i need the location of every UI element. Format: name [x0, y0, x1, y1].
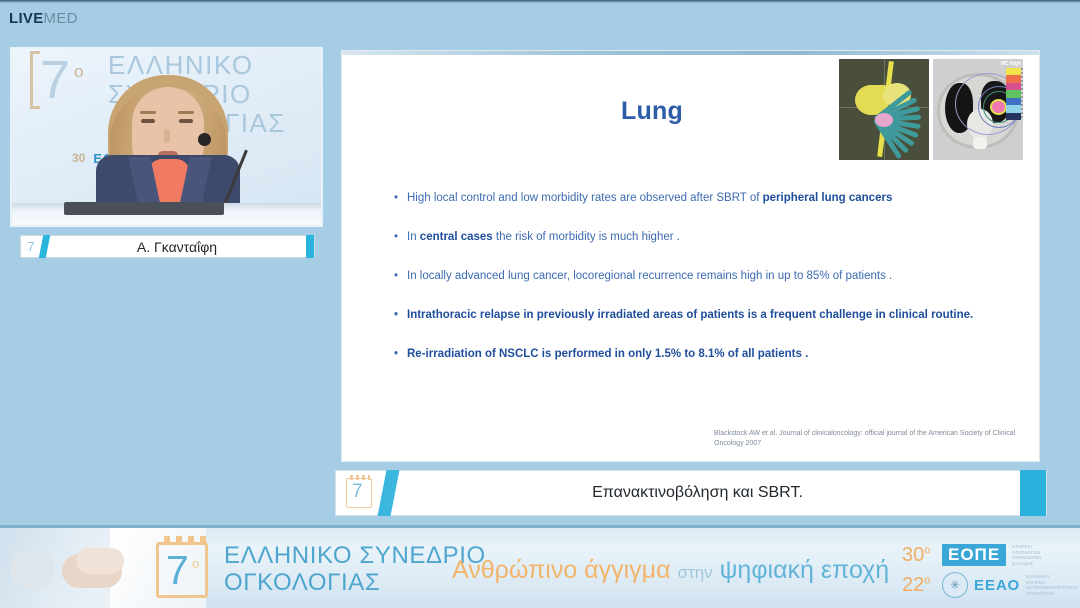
microphone-head-icon [198, 133, 211, 146]
podium-top-edge [64, 202, 224, 215]
speaker-brow-right [178, 111, 194, 114]
footer-eeao-seal-icon: ✳ [942, 572, 968, 598]
plan-target-volume [875, 113, 893, 127]
footer-eeao-subtitle: ΕΛΛΗΝΙΚΗ ΕΤΑΙΡΕΙΑ ΑΚΤΙΝΟΘΕΡΑΠΕΥΤΙΚΗΣ ΟΓΚ… [1026, 574, 1068, 596]
footer-eope-number: 30o [902, 544, 936, 567]
speaker-video-player[interactable]: 7 o ΕΛΛΗΝΙΚΟ ΣΥΝΕΔΡΙΟ ΟΓΚΟΛΟΓΙΑΣ 30 ΕΟΠΕ… [10, 47, 323, 227]
backdrop-degree: o [74, 57, 85, 86]
footer-photo-patient-head [10, 550, 54, 588]
speaker-name-bar: 7 Α. Γκανταΐφη [20, 235, 315, 258]
session-title-bar: 7 Επανακτινοβόληση και SBRT. [335, 470, 1047, 516]
ct-vertebra [973, 137, 987, 149]
speaker-eye-right [179, 119, 193, 123]
bullet-text: In locally advanced lung cancer, locoreg… [407, 269, 892, 284]
footer-tagline: Ανθρώπινο άγγιγμα στην ψηφιακή εποχή [452, 556, 889, 587]
footer-eope-subtitle: ΕΤΑΙΡΕΙΑ ΟΓΚΟΛΟΓΩΝ ΠΑΘΟΛΟΓΩΝ ΕΛΛΑΔΑΣ [1012, 544, 1054, 566]
speaker-nose [164, 129, 170, 143]
footer-conference-logo: 7 o ΕΛΛΗΝΙΚΟ ΣΥΝΕΔΡΙΟ ΟΓΚΟΛΟΓΙΑΣ [152, 542, 486, 598]
speaker-figure [98, 71, 238, 211]
bullet-marker-icon: • [394, 347, 407, 362]
slide-bullet-item: • In central cases the risk of morbidity… [394, 230, 1004, 245]
livemed-logo: LIVEMED [9, 10, 78, 28]
speaker-brow-left [140, 111, 156, 114]
footer-logo-seven: 7 [166, 545, 189, 595]
footer-society-logos: 30o ΕΟΠΕ ΕΤΑΙΡΕΙΑ ΟΓΚΟΛΟΓΩΝ ΠΑΘΟΛΟΓΩΝ ΕΛ… [902, 540, 1072, 604]
footer-eeao-mark: ΕΕΑΟ [974, 577, 1020, 594]
slide-bullet-item: • Re-irradiation of NSCLC is performed i… [394, 347, 1004, 362]
slide-bullet-item: • Intrathoracic relapse in previously ir… [394, 308, 1004, 323]
bullet-text: High local control and low morbidity rat… [407, 191, 892, 206]
footer-logo-degree: o [192, 556, 199, 571]
slide-citation: Blackstock AW et al. Journal of clinical… [714, 429, 1034, 449]
conference-footer-banner: 7 o ΕΛΛΗΝΙΚΟ ΣΥΝΕΔΡΙΟ ΟΓΚΟΛΟΓΙΑΣ Ανθρώπι… [0, 525, 1080, 608]
bullet-marker-icon: • [394, 308, 407, 323]
backdrop-bracket-icon [30, 51, 40, 109]
slide-bullet-item: • High local control and low morbidity r… [394, 191, 1004, 206]
bullet-marker-icon: • [394, 269, 407, 284]
footer-title-line-2: ΟΓΚΟΛΟΓΙΑΣ [224, 569, 486, 596]
footer-logo-eeao: 22o ✳ ΕΕΑΟ ΕΛΛΗΝΙΚΗ ΕΤΑΙΡΕΙΑ ΑΚΤΙΝΟΘΕΡΑΠ… [902, 570, 1072, 600]
speaker-name: Α. Γκανταΐφη [48, 239, 306, 255]
bullet-text: Intrathoracic relapse in previously irra… [407, 308, 973, 323]
caption-logo-badge: 7 [336, 478, 382, 508]
caption-logo-seven: 7 [352, 480, 363, 504]
speaker-bar-accent-right [306, 235, 314, 258]
slide-bullet-list: • High local control and low morbidity r… [394, 191, 1004, 386]
backdrop-sponsor-number: 30 [72, 151, 85, 165]
slide-bullet-item: • In locally advanced lung cancer, locor… [394, 269, 1004, 284]
session-title-text: Επανακτινοβόληση και SBRT. [395, 484, 1020, 502]
top-edge-strip [0, 0, 1080, 3]
radiotherapy-beam-plan-image [839, 59, 929, 160]
footer-eeao-number: 22o [902, 574, 936, 597]
ct-legend-label: MC High [1001, 61, 1021, 67]
ct-axial-chest-image: MC High [933, 59, 1023, 160]
bullet-marker-icon: • [394, 230, 407, 245]
bullet-text: In central cases the risk of morbidity i… [407, 230, 680, 245]
speaker-eye-left [141, 119, 155, 123]
slide-header-rule [342, 51, 1039, 55]
presentation-slide[interactable]: Lung [341, 50, 1040, 462]
footer-title-line-1: ΕΛΛΗΝΙΚΟ ΣΥΝΕΔΡΙΟ [224, 542, 486, 569]
ct-tumor-target [990, 99, 1007, 115]
slide-image-group: MC High [839, 59, 1023, 160]
footer-eope-mark: ΕΟΠΕ [942, 544, 1006, 566]
bullet-marker-icon: • [394, 191, 407, 206]
footer-tagline-part-3: ψηφιακή εποχή [720, 556, 890, 584]
footer-logo-eope: 30o ΕΟΠΕ ΕΤΑΙΡΕΙΑ ΟΓΚΟΛΟΓΩΝ ΠΑΘΟΛΟΓΩΝ ΕΛ… [902, 540, 1072, 570]
footer-tagline-part-2: στην [677, 563, 712, 582]
caption-accent-bar-right [1020, 470, 1046, 516]
bullet-text: Re-irradiation of NSCLC is performed in … [407, 347, 808, 362]
footer-photo-hands-top [76, 548, 124, 574]
speaker-badge-icon: 7 [21, 236, 41, 257]
brand-live: LIVE [9, 10, 44, 27]
brand-med: MED [44, 10, 78, 27]
footer-tagline-part-1: Ανθρώπινο άγγιγμα [452, 556, 671, 584]
backdrop-seven: 7 [40, 53, 72, 107]
ct-dose-colorbar [1006, 68, 1021, 120]
